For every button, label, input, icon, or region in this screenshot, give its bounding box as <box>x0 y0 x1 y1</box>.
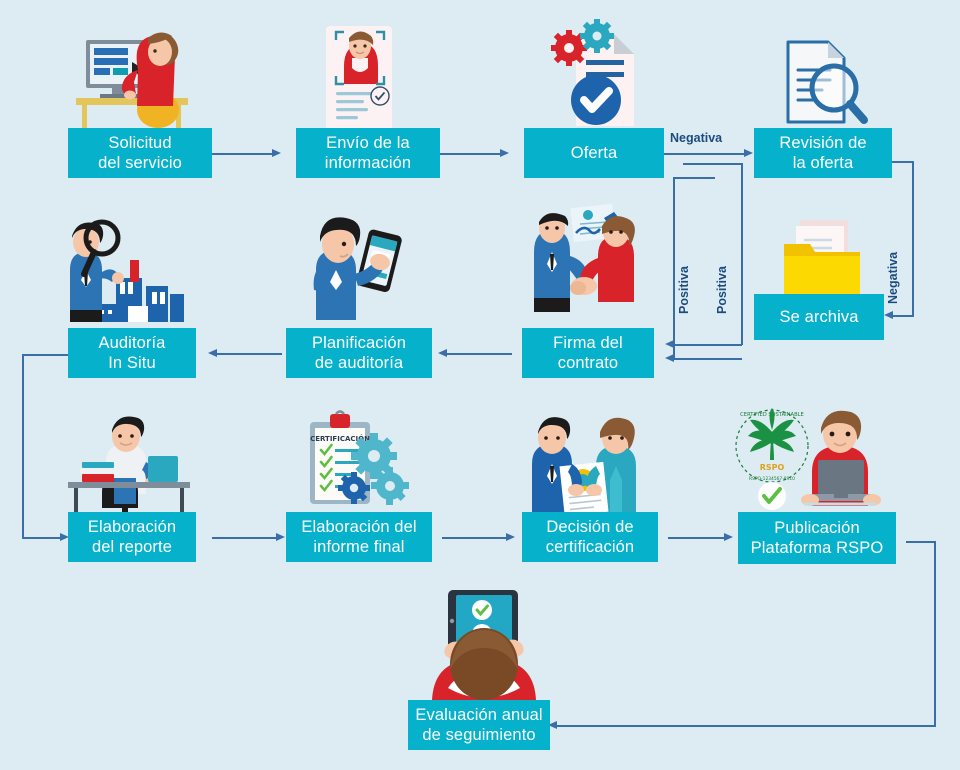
node-decision-line2: certificación <box>546 538 634 556</box>
positiva-inner-top <box>683 163 742 165</box>
arrow-solicitud-to-envio-head <box>272 149 281 157</box>
edge-label-positiva-outer: Positiva <box>677 266 691 314</box>
arrow-revision-to-archiva-vert <box>912 161 914 316</box>
arrow-planificacion-to-auditoria-line <box>216 353 282 355</box>
arrow-oferta-to-revision-line <box>664 153 746 155</box>
node-archiva-line1: Se archiva <box>780 308 859 326</box>
arrow-decision-to-publicacion-line <box>668 537 726 539</box>
node-solicitud-line1: Solicitud <box>108 134 171 152</box>
arrow-oferta-to-revision-head <box>744 149 753 157</box>
node-envio-line2: información <box>325 154 411 172</box>
positiva-outer-top <box>673 177 715 179</box>
node-evaluacion[interactable]: Evaluación anualde seguimiento <box>408 700 550 750</box>
node-envio[interactable]: Envío de lainformación <box>296 128 440 178</box>
node-evaluacion-line2: de seguimiento <box>422 726 535 744</box>
node-planificacion-line2: de auditoría <box>315 354 403 372</box>
node-solicitud[interactable]: Solicituddel servicio <box>68 128 212 178</box>
arrow-revision-to-archiva-top <box>892 161 914 163</box>
clipboard-gears-icon: CERTIFICACIÓN <box>302 412 420 516</box>
edge-label-positiva-inner: Positiva <box>715 266 729 314</box>
woman-at-computer-desk-icon <box>72 26 197 136</box>
node-evaluacion-line1: Evaluación anual <box>415 706 542 724</box>
publicacion-to-evaluacion-top <box>906 541 936 543</box>
arrow-revision-to-archiva-head <box>884 311 893 319</box>
node-planificacion-line1: Planificación <box>312 334 406 352</box>
arrow-planificacion-to-auditoria-head <box>208 349 217 357</box>
rspo-seal-acronym: RSPO <box>760 463 785 472</box>
node-informe-line1: Elaboración del <box>301 518 416 536</box>
node-firma[interactable]: Firma delcontrato <box>522 328 654 378</box>
node-auditoria[interactable]: AuditoríaIn Situ <box>68 328 196 378</box>
node-decision-line1: Decisión de <box>546 518 633 536</box>
handshake-contract-icon <box>516 206 652 324</box>
document-gears-check-icon <box>540 18 650 136</box>
edge-label-negativa-revision: Negativa <box>886 252 900 304</box>
node-revision-line1: Revisión de <box>779 134 866 152</box>
auditoria-to-reporte-vert <box>22 354 24 538</box>
positiva-outer-bottom <box>673 358 742 360</box>
node-planificacion[interactable]: Planificaciónde auditoría <box>286 328 432 378</box>
two-people-certificate-icon <box>520 414 648 520</box>
node-auditoria-line2: In Situ <box>108 354 155 372</box>
arrow-envio-to-oferta-line <box>440 153 502 155</box>
node-reporte-line1: Elaboración <box>88 518 176 536</box>
node-publicacion-line2: Plataforma RSPO <box>751 539 884 557</box>
publicacion-to-evaluacion-vert <box>934 541 936 726</box>
node-archiva[interactable]: Se archiva <box>754 294 884 340</box>
node-envio-line1: Envío de la <box>326 134 410 152</box>
positiva-inner-bottom <box>673 344 742 346</box>
id-document-photo-icon <box>318 24 404 136</box>
arrow-reporte-to-informe-line <box>212 537 278 539</box>
arrow-firma-to-planificacion-line <box>446 353 512 355</box>
node-auditoria-line1: Auditoría <box>99 334 166 352</box>
auditoria-to-reporte-top <box>22 354 70 356</box>
node-oferta-line1: Oferta <box>571 144 617 162</box>
node-publicacion-line1: Publicación <box>774 519 860 537</box>
man-smartphone-calendar-icon: 12 <box>300 214 424 328</box>
node-oferta[interactable]: Oferta <box>524 128 664 178</box>
edge-label-negativa-oferta: Negativa <box>670 131 722 145</box>
node-firma-line2: contrato <box>558 354 618 372</box>
arrow-firma-to-planificacion-head <box>438 349 447 357</box>
positiva-outer-head <box>665 354 674 362</box>
publicacion-to-evaluacion-bottom <box>556 725 936 727</box>
node-reporte-line2: del reporte <box>92 538 172 556</box>
node-informe-line2: informe final <box>313 538 404 556</box>
arrow-revision-to-archiva-bottom <box>892 315 914 317</box>
rspo-seal-bottom-text: RSPO-1234567-8910 <box>749 476 795 482</box>
arrow-envio-to-oferta-head <box>500 149 509 157</box>
positiva-inner-head <box>665 340 674 348</box>
node-publicacion[interactable]: PublicaciónPlataforma RSPO <box>738 512 896 564</box>
rspo-seal-laptop-icon: CERTIFIED SUSTAINABLE RSPO RSPO-1234567-… <box>726 406 906 520</box>
arrow-reporte-to-informe-head <box>276 533 285 541</box>
node-revision[interactable]: Revisión dela oferta <box>754 128 892 178</box>
arrow-informe-to-decision-line <box>442 537 508 539</box>
node-informe[interactable]: Elaboración delinforme final <box>286 512 432 562</box>
node-decision[interactable]: Decisión decertificación <box>522 512 658 562</box>
man-writing-desk-icon <box>62 416 196 522</box>
node-revision-line2: la oferta <box>793 154 854 172</box>
node-solicitud-line2: del servicio <box>98 154 182 172</box>
arrow-decision-to-publicacion-head <box>724 533 733 541</box>
tablet-checklist-icon <box>424 590 544 716</box>
document-magnifier-icon <box>782 36 868 132</box>
auditoria-to-reporte-bottom <box>22 537 62 539</box>
positiva-inner-vert <box>741 163 743 345</box>
arrow-solicitud-to-envio-line <box>212 153 274 155</box>
positiva-outer-vert <box>673 177 675 359</box>
arrow-informe-to-decision-head <box>506 533 515 541</box>
flowchart-canvas: 12 <box>0 0 960 770</box>
node-reporte[interactable]: Elaboracióndel reporte <box>68 512 196 562</box>
auditor-magnifier-factory-icon <box>68 216 198 328</box>
node-firma-line1: Firma del <box>553 334 623 352</box>
